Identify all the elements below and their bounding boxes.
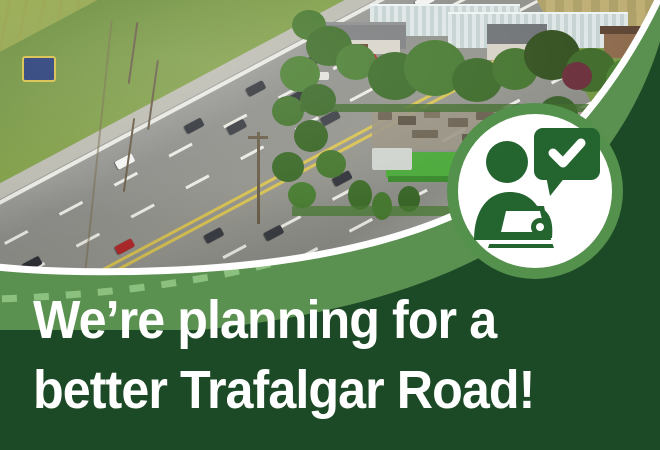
page-title: We’re planning for a better Trafalgar Ro… — [33, 285, 633, 425]
consultation-badge — [447, 103, 623, 279]
campaign-banner: We’re planning for a better Trafalgar Ro… — [0, 0, 660, 450]
headline-line-1: We’re planning for a — [33, 285, 591, 355]
person-with-laptop-and-check-speech-bubble-icon — [458, 114, 612, 268]
headline-line-2: better Trafalgar Road! — [33, 355, 591, 425]
person-head-icon — [486, 141, 528, 183]
